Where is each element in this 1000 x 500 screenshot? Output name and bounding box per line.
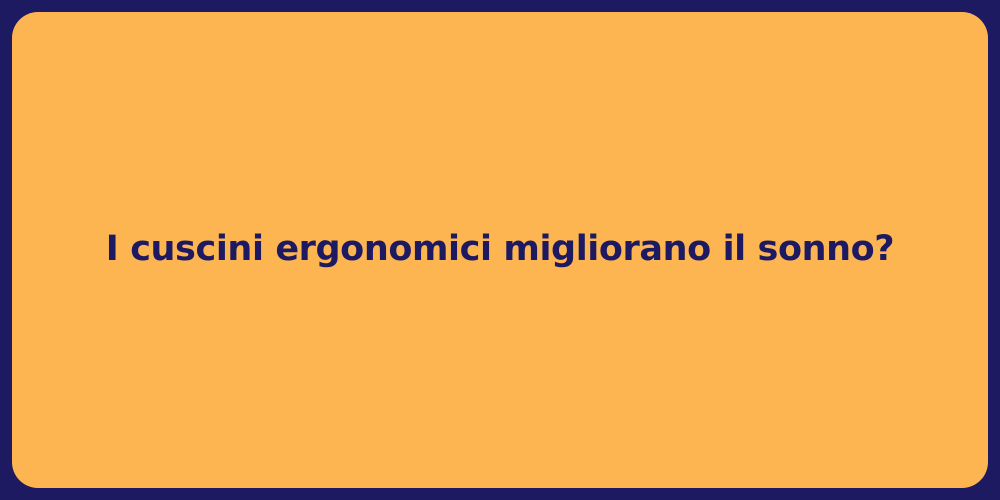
banner-panel: I cuscini ergonomici migliorano il sonno… (12, 12, 988, 488)
headline-text: I cuscini ergonomici migliorano il sonno… (106, 228, 894, 272)
banner-frame: I cuscini ergonomici migliorano il sonno… (0, 0, 1000, 500)
